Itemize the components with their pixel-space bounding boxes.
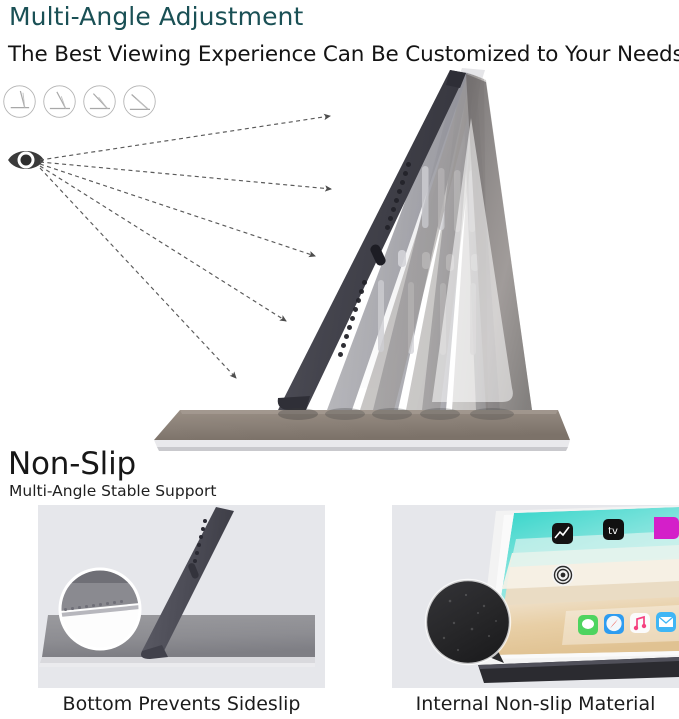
svg-text:tv: tv bbox=[608, 526, 618, 537]
bottom-prevents-sideslip-panel bbox=[38, 505, 325, 688]
angle-preset-icon-row bbox=[2, 84, 157, 119]
magnifier-callout bbox=[60, 569, 140, 649]
internal-non-slip-material-panel: tv bbox=[392, 505, 679, 688]
material-photo: tv bbox=[392, 505, 679, 688]
sideslip-photo bbox=[38, 505, 325, 688]
material-swatch-callout bbox=[426, 580, 510, 664]
eye-icon bbox=[6, 140, 76, 180]
angle-preset-3-icon bbox=[82, 84, 117, 119]
page-title: Multi-Angle Adjustment bbox=[9, 2, 303, 31]
caption-internal-non-slip-material: Internal Non-slip Material bbox=[392, 693, 679, 715]
music-icon bbox=[630, 613, 650, 633]
caption-bottom-prevents-sideslip: Bottom Prevents Sideslip bbox=[38, 693, 325, 715]
product-feature-image: Multi-Angle Adjustment The Best Viewing … bbox=[0, 0, 679, 719]
magenta-app-icon bbox=[654, 517, 679, 539]
photos-icon bbox=[552, 564, 574, 586]
angle-preset-2-icon bbox=[42, 84, 77, 119]
angle-preset-1-icon bbox=[2, 84, 37, 119]
nonslip-title: Non-Slip bbox=[8, 446, 136, 482]
viewer-eye bbox=[6, 140, 76, 180]
multi-angle-tablet-composite bbox=[140, 58, 590, 458]
nonslip-subtitle: Multi-Angle Stable Support bbox=[9, 482, 216, 500]
home-screen: tv bbox=[492, 507, 679, 655]
